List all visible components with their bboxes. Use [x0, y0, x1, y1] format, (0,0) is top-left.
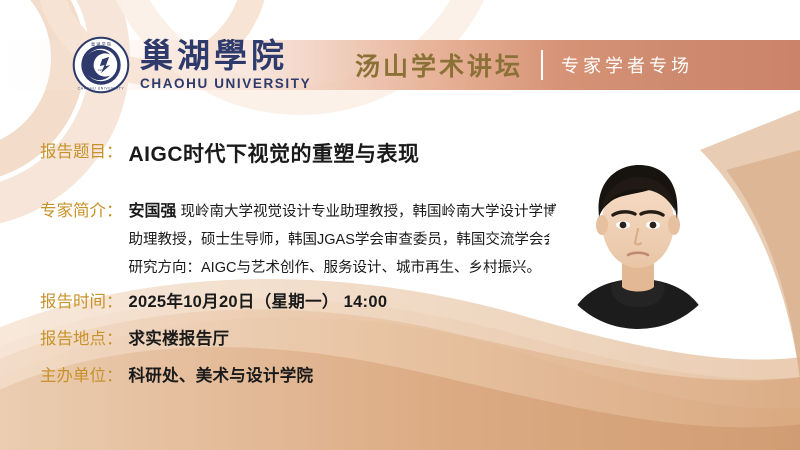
bio-row: 专家简介： 安国强现岭南大学视觉设计专业助理教授，韩国岭南大学设计学博士， 助理…	[40, 197, 587, 277]
place-value: 求实楼报告厅	[129, 325, 230, 349]
topic-row: 报告题目： AIGC时代下视觉的重塑与表现	[40, 138, 420, 168]
header-banner-content: 汤山学术讲坛 专家学者专场	[355, 40, 800, 90]
poster-canvas: 汤山学术讲坛 专家学者专场 巢 湖 学 院 CHAOHU UNIVERSITY …	[0, 0, 800, 450]
university-name-cn: 巢湖學院	[140, 39, 311, 72]
time-row: 报告时间： 2025年10月20日（星期一） 14:00	[40, 288, 387, 312]
svg-text:CHAOHU UNIVERSITY: CHAOHU UNIVERSITY	[78, 86, 125, 90]
bio-line-1: 安国强现岭南大学视觉设计专业助理教授，韩国岭南大学设计学博士，	[129, 197, 587, 221]
organizer-value: 科研处、美术与设计学院	[129, 362, 314, 386]
bio-line-2: 助理教授，硕士生导师，韩国JGAS学会审查委员，韩国交流学会会员。	[129, 228, 587, 249]
organizer-row: 主办单位： 科研处、美术与设计学院	[40, 362, 313, 386]
university-name-en: CHAOHU UNIVERSITY	[140, 77, 311, 91]
time-value: 2025年10月20日（星期一） 14:00	[129, 288, 388, 312]
bio-body: 安国强现岭南大学视觉设计专业助理教授，韩国岭南大学设计学博士， 助理教授，硕士生…	[129, 197, 587, 277]
university-wordmark: 巢湖學院 CHAOHU UNIVERSITY	[140, 39, 311, 91]
place-row: 报告地点： 求实楼报告厅	[40, 325, 229, 349]
svg-text:巢 湖 学 院: 巢 湖 学 院	[91, 40, 111, 46]
place-label: 报告地点：	[40, 325, 123, 349]
time-label: 报告时间：	[40, 288, 123, 312]
topic-label: 报告题目：	[40, 138, 123, 162]
speaker-name: 安国强	[129, 203, 177, 220]
bio-line-3: 研究方向：AIGC与艺术创作、服务设计、城市再生、乡村振兴。	[129, 256, 587, 277]
forum-subtitle: 专家学者专场	[561, 52, 693, 78]
bio-text-1: 现岭南大学视觉设计专业助理教授，韩国岭南大学设计学博士，	[181, 204, 587, 220]
banner-divider	[541, 50, 543, 80]
university-logo: 巢 湖 学 院 CHAOHU UNIVERSITY 1977 巢湖學院 CHAO…	[72, 36, 311, 94]
svg-text:1977: 1977	[98, 68, 104, 72]
topic-value: AIGC时代下视觉的重塑与表现	[129, 138, 420, 168]
speaker-portrait-photo	[549, 151, 727, 329]
university-seal-icon: 巢 湖 学 院 CHAOHU UNIVERSITY 1977	[72, 36, 130, 94]
forum-title: 汤山学术讲坛	[355, 47, 523, 83]
organizer-label: 主办单位：	[40, 362, 123, 386]
bio-label: 专家简介：	[40, 197, 123, 221]
